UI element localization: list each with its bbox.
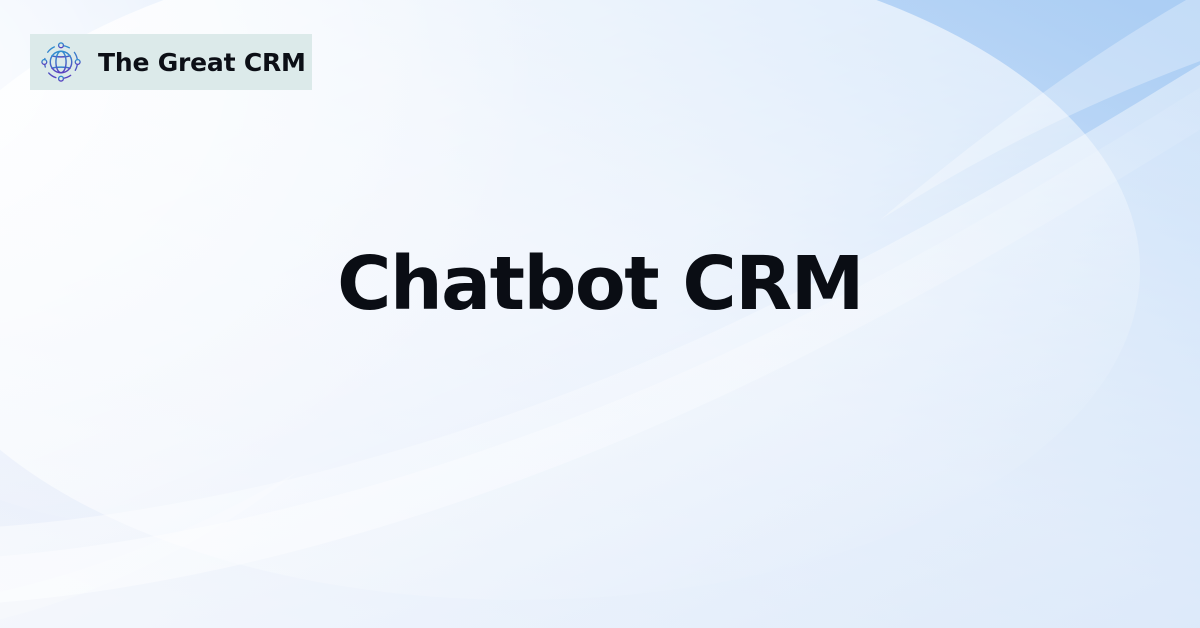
brand-name: The Great CRM [98, 50, 306, 75]
background-decoration [0, 0, 1200, 628]
brand-lockup[interactable]: The Great CRM [30, 34, 312, 90]
globe-network-icon [38, 39, 84, 85]
hero-banner: The Great CRM Chatbot CRM [0, 0, 1200, 628]
